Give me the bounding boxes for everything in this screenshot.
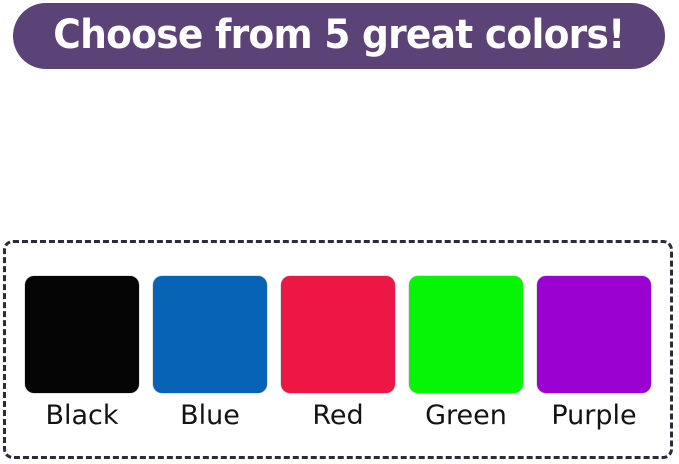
promo-banner-text: Choose from 5 great colors! bbox=[53, 15, 624, 55]
color-label-blue: Blue bbox=[180, 402, 240, 430]
color-chip-green[interactable] bbox=[409, 276, 523, 393]
color-option-purple[interactable]: Purple bbox=[530, 276, 658, 430]
color-swatch-row: Black Blue Red Green Purple bbox=[6, 243, 670, 456]
color-option-blue[interactable]: Blue bbox=[146, 276, 274, 430]
color-chip-purple[interactable] bbox=[537, 276, 651, 393]
color-option-green[interactable]: Green bbox=[402, 276, 530, 430]
color-chip-blue[interactable] bbox=[153, 276, 267, 393]
color-chip-red[interactable] bbox=[281, 276, 395, 393]
color-swatch-panel: Black Blue Red Green Purple bbox=[3, 240, 673, 459]
color-label-red: Red bbox=[312, 402, 363, 430]
color-option-black[interactable]: Black bbox=[18, 276, 146, 430]
promo-banner: Choose from 5 great colors! bbox=[13, 3, 665, 69]
color-label-black: Black bbox=[45, 402, 118, 430]
color-chip-black[interactable] bbox=[25, 276, 139, 393]
color-label-green: Green bbox=[425, 402, 507, 430]
color-option-red[interactable]: Red bbox=[274, 276, 402, 430]
color-label-purple: Purple bbox=[551, 402, 636, 430]
